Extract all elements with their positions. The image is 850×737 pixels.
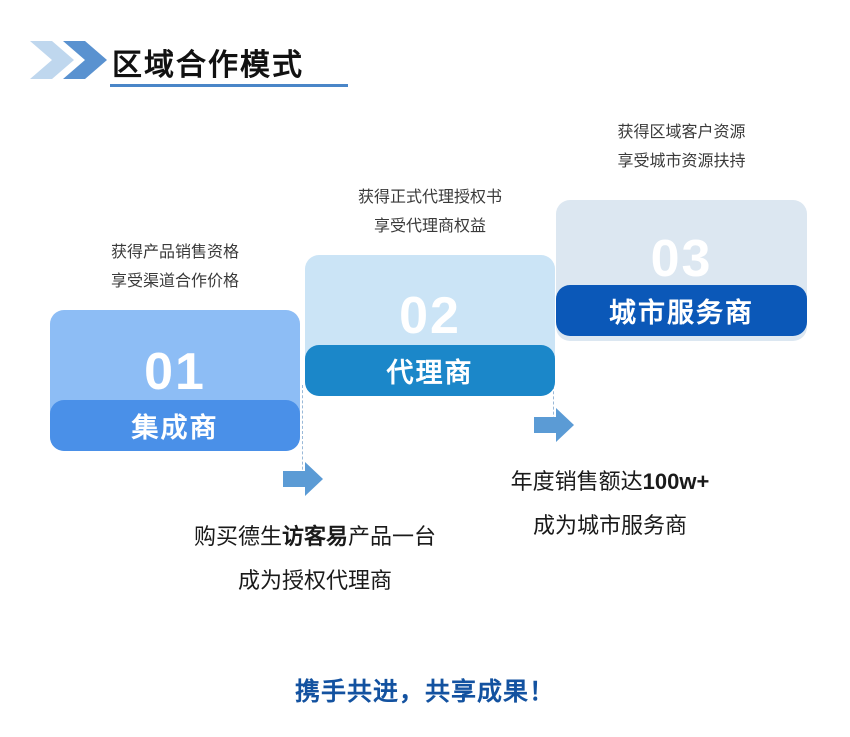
step-card-1[interactable]: 01 集成商 bbox=[50, 310, 300, 451]
transition-2-line-2: 成为城市服务商 bbox=[440, 504, 780, 548]
flow-arrow-right-icon-1 bbox=[283, 462, 323, 496]
step-2-benefit-line-1: 获得正式代理授权书 bbox=[305, 183, 555, 212]
step-1-label: 集成商 bbox=[132, 406, 219, 445]
step-2-benefits: 获得正式代理授权书 享受代理商权益 bbox=[305, 183, 555, 241]
transition-1-text: 购买德生访客易产品一台 成为授权代理商 bbox=[145, 515, 485, 603]
step-1-label-bar: 集成商 bbox=[50, 400, 300, 451]
step-1-benefit-line-2: 享受渠道合作价格 bbox=[50, 267, 300, 296]
transition-1-line-1: 购买德生访客易产品一台 bbox=[145, 515, 485, 559]
step-3-number: 03 bbox=[556, 233, 807, 285]
transition-1-line-2: 成为授权代理商 bbox=[145, 559, 485, 603]
step-card-3[interactable]: 03 城市服务商 bbox=[556, 200, 807, 341]
flow-arrow-right-icon-2 bbox=[534, 408, 574, 442]
transition-2-text: 年度销售额达100w+ 成为城市服务商 bbox=[440, 460, 780, 548]
transition-1-highlight: 访客易 bbox=[282, 524, 348, 549]
step-card-2[interactable]: 02 代理商 bbox=[305, 255, 555, 396]
footer-slogan: 携手共进，共享成果！ bbox=[0, 672, 850, 708]
double-chevron-icon bbox=[30, 41, 108, 79]
step-3-benefits: 获得区域客户资源 享受城市资源扶持 bbox=[556, 118, 807, 176]
step-3-label-bar: 城市服务商 bbox=[556, 285, 807, 336]
step-2-label-bar: 代理商 bbox=[305, 345, 555, 396]
step-2-label: 代理商 bbox=[387, 351, 474, 390]
transition-2-prefix: 年度销售额达 bbox=[511, 469, 643, 494]
step-3-label: 城市服务商 bbox=[609, 291, 754, 330]
step-3-benefit-line-1: 获得区域客户资源 bbox=[556, 118, 807, 147]
step-2-benefit-line-2: 享受代理商权益 bbox=[305, 212, 555, 241]
step-1-benefit-line-1: 获得产品销售资格 bbox=[50, 238, 300, 267]
step-1-benefits: 获得产品销售资格 享受渠道合作价格 bbox=[50, 238, 300, 296]
step-3-benefit-line-2: 享受城市资源扶持 bbox=[556, 147, 807, 176]
transition-2-line-1: 年度销售额达100w+ bbox=[440, 460, 780, 504]
step-1-number: 01 bbox=[50, 346, 300, 398]
transition-2-highlight: 100w+ bbox=[643, 469, 710, 494]
transition-1-prefix: 购买德生 bbox=[194, 524, 282, 549]
page-title: 区域合作模式 bbox=[112, 40, 304, 84]
title-underline bbox=[110, 84, 348, 87]
step-2-number: 02 bbox=[305, 290, 555, 342]
page-header: 区域合作模式 bbox=[0, 0, 850, 110]
transition-1-suffix: 产品一台 bbox=[348, 524, 436, 549]
